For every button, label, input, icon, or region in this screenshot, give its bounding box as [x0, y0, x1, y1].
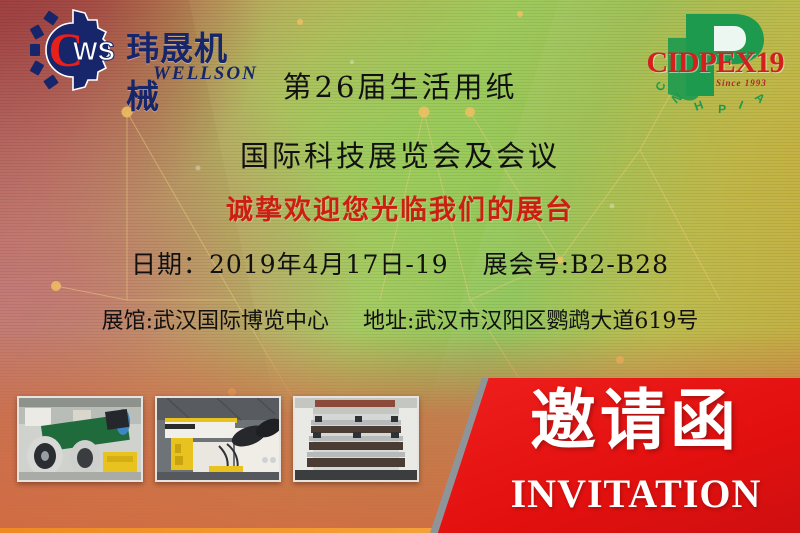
svg-text:WS: WS: [73, 36, 115, 66]
invitation-english-title: INVITATION: [480, 470, 792, 517]
headline-line-1: 第26届生活用纸: [0, 64, 800, 106]
booth-label: 展会号:: [483, 250, 570, 279]
venue-and-address-line: 展馆:武汉国际博览中心地址:武汉市汉阳区鹦鹉大道619号: [0, 303, 800, 335]
address-label: 地址:: [363, 309, 414, 334]
invitation-chinese-title: 邀请函: [480, 386, 790, 455]
photo-yellow-machine: [155, 396, 281, 482]
date-and-booth-line: 日期：2019年4月17日-19展会号:B2-B28: [0, 245, 800, 281]
invitation-poster: C WS 玮晟机械 WELLSON C N H P I A CIDPEX19 S…: [0, 0, 800, 533]
address-value: 武汉市汉阳区鹦鹉大道619号: [414, 309, 698, 334]
invitation-block: 邀请函 INVITATION: [430, 378, 800, 533]
date-label: 日期：: [131, 250, 209, 279]
photo-strip: [17, 396, 419, 482]
venue-value: 武汉国际博览中心: [153, 309, 329, 334]
venue-label: 展馆:: [102, 309, 153, 334]
welcome-line: 诚挚欢迎您光临我们的展台: [0, 188, 800, 227]
photo-green-rollers: [17, 396, 143, 482]
booth-value: B2-B28: [570, 250, 669, 279]
date-value: 2019年4月17日-19: [209, 250, 449, 279]
photo-conveyor-line: [293, 396, 419, 482]
headline-line-2: 国际科技展览会及会议: [0, 133, 800, 175]
